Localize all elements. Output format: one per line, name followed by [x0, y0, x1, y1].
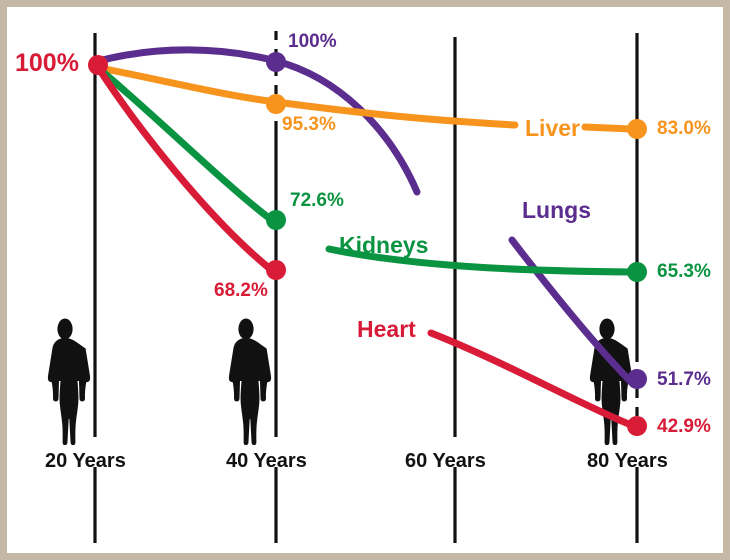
point-liver-80 [627, 119, 647, 139]
point-lungs-80 [627, 369, 647, 389]
point-lungs-40 [266, 52, 286, 72]
series-label-heart: Heart [357, 318, 416, 341]
series-label-kidneys: Kidneys [339, 234, 428, 257]
point-heart-40 [266, 260, 286, 280]
series-label-liver: Liver [525, 117, 580, 140]
point-start-100 [88, 55, 108, 75]
kidneys-value-80: 65.3% [657, 262, 711, 281]
heart-value-40: 68.2% [214, 281, 268, 300]
series-line-liver-connector [585, 127, 631, 129]
heart-value-80: 42.9% [657, 417, 711, 436]
point-kidneys-40 [266, 210, 286, 230]
kidneys-value-40: 72.6% [290, 191, 344, 210]
human-figure-20 [48, 319, 90, 446]
chart-frame: 100% 100% 95.3% 72.6% 68.2% 83.0% 65.3% … [0, 0, 730, 560]
point-liver-40 [266, 94, 286, 114]
chart-plot-area: 100% 100% 95.3% 72.6% 68.2% 83.0% 65.3% … [7, 7, 723, 553]
series-label-lungs: Lungs [522, 199, 591, 222]
start-value-label: 100% [15, 51, 79, 76]
liver-value-40: 95.3% [282, 115, 336, 134]
axis-tick-label-80: 80 Years [587, 451, 668, 471]
axis-tick-label-40: 40 Years [226, 451, 307, 471]
axis-tick-label-60: 60 Years [405, 451, 486, 471]
point-heart-80 [627, 416, 647, 436]
human-figure-40 [229, 319, 271, 446]
series-line-lungs [95, 50, 417, 192]
lungs-value-40: 100% [288, 32, 337, 51]
liver-value-80: 83.0% [657, 119, 711, 138]
lungs-value-80: 51.7% [657, 370, 711, 389]
point-kidneys-80 [627, 262, 647, 282]
axis-tick-label-20: 20 Years [45, 451, 126, 471]
series-line-kidneys [97, 67, 269, 218]
series-line-lungs-tail [512, 240, 631, 382]
